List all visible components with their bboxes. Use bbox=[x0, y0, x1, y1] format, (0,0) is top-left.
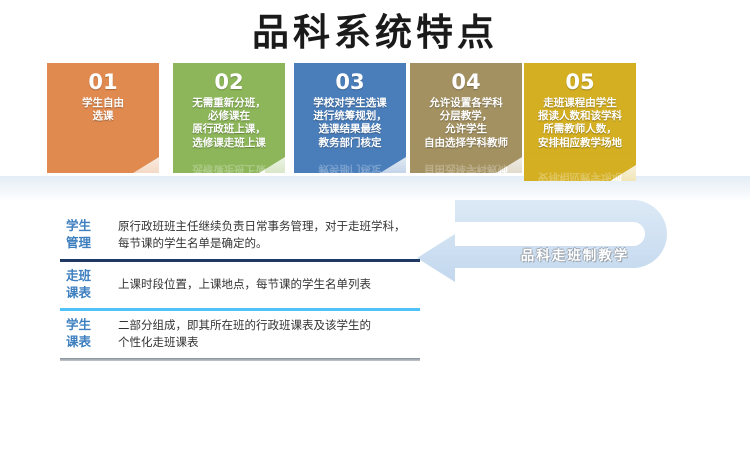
card-01-text: 学生自由 选课 bbox=[51, 97, 155, 123]
card-04-number: 04 bbox=[414, 69, 518, 95]
card-04-fold bbox=[496, 157, 522, 173]
card-05-number: 05 bbox=[528, 69, 632, 95]
card-03-fold bbox=[380, 157, 406, 173]
page-title: 品科系统特点 bbox=[0, 2, 750, 56]
card-02-wrap[interactable]: 02 无需重新分班， 必修课在 原行政班上课， 选修课走班上课 02 无需重新分… bbox=[173, 63, 285, 181]
arrow-shape bbox=[417, 200, 667, 282]
card-02-number: 02 bbox=[177, 69, 281, 95]
card-05-wrap[interactable]: 05 走班课程由学生 报读人数和该学科 所需教师人数， 安排相应教学场地 05 … bbox=[524, 63, 636, 181]
card-03-number: 03 bbox=[298, 69, 402, 95]
card-01-number: 01 bbox=[51, 69, 155, 95]
feature-cards: 01 学生自由 选课 01 学生自由 选课 02 无需重新分班， 必修课在 原行… bbox=[0, 63, 750, 193]
table-row-zouban-schedule[interactable]: 走班 课表 上课时段位置，上课地点，每节课的学生名单列表 bbox=[60, 262, 420, 308]
card-05-fold bbox=[610, 165, 636, 181]
card-03[interactable]: 03 学校对学生选课 进行统筹规划， 选课结果最终 教务部门核定 bbox=[294, 63, 406, 173]
card-01-wrap[interactable]: 01 学生自由 选课 01 学生自由 选课 bbox=[47, 63, 159, 181]
card-01[interactable]: 01 学生自由 选课 bbox=[47, 63, 159, 173]
process-arrow: 品科走班制教学 bbox=[415, 186, 695, 282]
divider-gray bbox=[60, 358, 420, 361]
card-04[interactable]: 04 允许设置各学科 分层教学， 允许学生 自由选择学科教师 bbox=[410, 63, 522, 173]
arrow-label: 品科走班制教学 bbox=[470, 244, 680, 264]
summary-table: 学生 管理 原行政班班主任继续负责日常事务管理，对于走班学科， 每节课的学生名单… bbox=[60, 212, 420, 361]
card-05[interactable]: 05 走班课程由学生 报读人数和该学科 所需教师人数， 安排相应教学场地 bbox=[524, 63, 636, 181]
card-03-wrap[interactable]: 03 学校对学生选课 进行统筹规划， 选课结果最终 教务部门核定 03 学校对学… bbox=[294, 63, 406, 181]
row-1-label: 学生 管理 bbox=[60, 218, 108, 251]
row-2-label: 走班 课表 bbox=[60, 268, 108, 301]
table-row-student-management[interactable]: 学生 管理 原行政班班主任继续负责日常事务管理，对于走班学科， 每节课的学生名单… bbox=[60, 212, 420, 259]
table-row-student-schedule[interactable]: 学生 课表 二部分组成，即其所在班的行政班课表及该学生的 个性化走班课表 bbox=[60, 311, 420, 358]
card-02[interactable]: 02 无需重新分班， 必修课在 原行政班上课， 选修课走班上课 bbox=[173, 63, 285, 173]
card-02-fold bbox=[259, 157, 285, 173]
infographic-page: 品科系统特点 品科走班制教学 01 学生自由 选课 bbox=[0, 0, 750, 450]
row-1-description: 原行政班班主任继续负责日常事务管理，对于走班学科， 每节课的学生名单是确定的。 bbox=[108, 218, 420, 252]
row-2-description: 上课时段位置，上课地点，每节课的学生名单列表 bbox=[108, 268, 420, 293]
card-04-text: 允许设置各学科 分层教学， 允许学生 自由选择学科教师 bbox=[414, 97, 518, 150]
card-05-text: 走班课程由学生 报读人数和该学科 所需教师人数， 安排相应教学场地 bbox=[528, 97, 632, 150]
row-3-description: 二部分组成，即其所在班的行政班课表及该学生的 个性化走班课表 bbox=[108, 317, 420, 351]
card-04-wrap[interactable]: 04 允许设置各学科 分层教学， 允许学生 自由选择学科教师 04 允许设置各学… bbox=[410, 63, 522, 181]
card-02-text: 无需重新分班， 必修课在 原行政班上课， 选修课走班上课 bbox=[177, 97, 281, 150]
card-03-text: 学校对学生选课 进行统筹规划， 选课结果最终 教务部门核定 bbox=[298, 97, 402, 150]
card-01-fold bbox=[133, 157, 159, 173]
row-3-label: 学生 课表 bbox=[60, 317, 108, 350]
